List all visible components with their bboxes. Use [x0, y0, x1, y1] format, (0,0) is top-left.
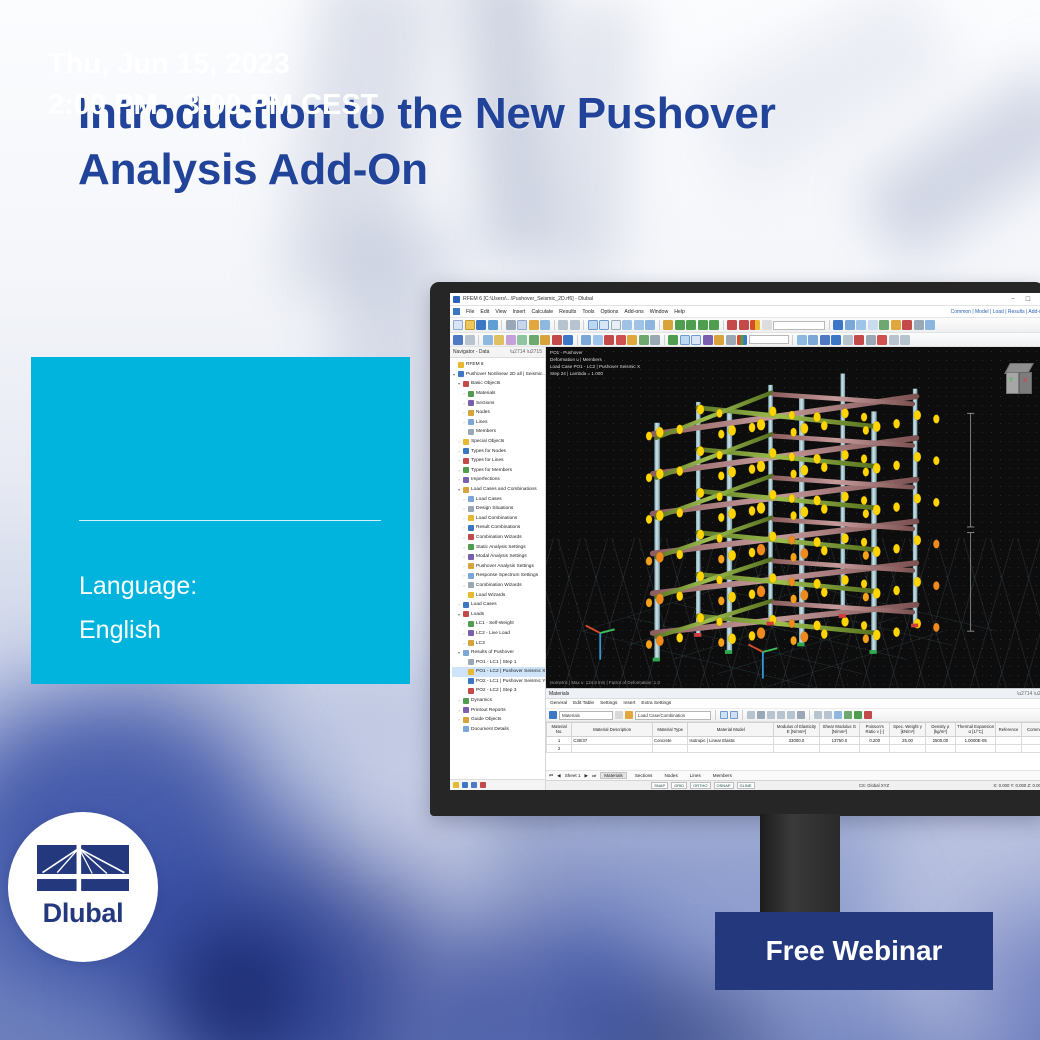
- material-icon: [468, 391, 474, 397]
- plastic-hinge-marker: [716, 576, 722, 585]
- table-cell[interactable]: 2500.00: [925, 736, 955, 744]
- tree-twisty-icon[interactable]: ›: [462, 554, 466, 559]
- plastic-hinge-marker: [813, 496, 820, 506]
- table-cell[interactable]: [890, 744, 925, 752]
- load-case-combo[interactable]: [749, 335, 789, 344]
- navigator-item[interactable]: ›Dynamics: [452, 696, 545, 706]
- plastic-hinge-marker: [697, 446, 704, 456]
- toolbar-primary: [450, 318, 1040, 333]
- node-select-icon[interactable]: [833, 320, 843, 330]
- navigator-item[interactable]: ▾Load Cases and Combinations: [452, 485, 545, 495]
- line-load-icon[interactable]: [616, 335, 626, 345]
- tree-twisty-icon[interactable]: ›: [462, 420, 466, 425]
- support-node-icon[interactable]: [529, 335, 539, 345]
- navigator-item-label: Load Cases and Combinations: [471, 487, 537, 492]
- table-cell[interactable]: [996, 736, 1021, 744]
- navigator-item[interactable]: ›Nodes: [452, 408, 545, 418]
- menu-item-addons[interactable]: Add-ons: [624, 309, 643, 315]
- table-panel-title: Materials: [549, 691, 569, 697]
- table-cell[interactable]: [925, 744, 955, 752]
- menu-item-file[interactable]: File: [466, 309, 474, 315]
- plastic-hinge-marker: [646, 640, 652, 649]
- navigator-item[interactable]: ›Materials: [452, 389, 545, 399]
- divide-icon[interactable]: [843, 335, 853, 345]
- navigator-item[interactable]: Document Details: [452, 725, 545, 735]
- support-icon[interactable]: [879, 320, 889, 330]
- tree-twisty-icon[interactable]: ›: [457, 449, 461, 454]
- opening-icon[interactable]: [517, 335, 527, 345]
- table-menu-edittable[interactable]: Edit Table: [573, 701, 594, 706]
- navigator-item[interactable]: ▾Pushover Nonlinear 2D all | Seismic...: [452, 370, 545, 380]
- plastic-hinge-marker: [933, 456, 939, 465]
- navigator-item[interactable]: ›Lines: [452, 418, 545, 428]
- delete-icon[interactable]: [877, 335, 887, 345]
- redo-icon[interactable]: [570, 320, 580, 330]
- table-loadcase-combo[interactable]: Load Case/Combination: [635, 711, 711, 720]
- nav-next-icon[interactable]: ▶: [585, 773, 589, 779]
- results-tab-icon[interactable]: [480, 782, 486, 788]
- arc-icon[interactable]: [900, 335, 910, 345]
- print-table-icon[interactable]: [834, 711, 842, 719]
- import-icon[interactable]: [824, 711, 832, 719]
- plastic-hinge-marker: [801, 465, 809, 476]
- table-edit-icon[interactable]: [767, 711, 775, 719]
- calc-icon[interactable]: [844, 711, 852, 719]
- table-cell[interactable]: [956, 744, 996, 752]
- tree-twisty-icon[interactable]: ›: [462, 583, 466, 588]
- nav-last-icon[interactable]: ⏭: [592, 773, 596, 778]
- table-column-header[interactable]: Poisson's Ratio ν [-]: [860, 723, 890, 737]
- navigator-item-label: PO1 - LC2 | Pushover Seismic X: [476, 669, 545, 674]
- load-icon[interactable]: [902, 320, 912, 330]
- navigator-item[interactable]: ›Response Spectrum Settings: [452, 571, 545, 581]
- navigator-item[interactable]: ›Combination Wizards: [452, 581, 545, 591]
- table-cell[interactable]: [572, 744, 653, 752]
- view-side-icon[interactable]: [645, 320, 655, 330]
- print-icon[interactable]: [488, 320, 498, 330]
- webinar-date: Thu, Jun 15, 2023: [48, 44, 468, 85]
- navigator-item[interactable]: ›Types for Nodes: [452, 446, 545, 456]
- navigator-item-label: Modal Analysis Settings: [476, 554, 527, 559]
- tree-twisty-icon[interactable]: ›: [462, 401, 466, 406]
- display-tab-icon[interactable]: [462, 782, 468, 788]
- plastic-hinge-marker: [914, 535, 921, 545]
- plastic-hinge-marker: [821, 421, 828, 430]
- status-cs: CS: Global XYZ: [859, 783, 889, 788]
- measure-icon[interactable]: [714, 335, 724, 345]
- minimize-button[interactable]: –: [1007, 296, 1019, 302]
- lc-icon: [468, 640, 474, 646]
- materials-table[interactable]: Material No.Material DescriptionMaterial…: [546, 722, 1040, 753]
- edit-filter-icon[interactable]: [625, 711, 633, 719]
- render-solid-icon[interactable]: [588, 320, 598, 330]
- app-logo-icon: [453, 296, 460, 303]
- plastic-hinge-marker: [813, 412, 820, 422]
- webinar-datetime: Thu, Jun 15, 2023 2:00 PM - 3:00 PM CEST: [48, 44, 468, 126]
- plastic-hinge-marker: [861, 579, 867, 588]
- navigator-item-label: Static Analysis Settings: [476, 545, 526, 550]
- table-cell[interactable]: [653, 744, 688, 752]
- hinge-icon[interactable]: [891, 320, 901, 330]
- tree-twisty-icon[interactable]: ›: [457, 708, 461, 713]
- table-body[interactable]: 1C30/37ConcreteIsotropic | Linear Elasti…: [547, 736, 1040, 752]
- navigator-item-label: Types for Members: [471, 468, 512, 473]
- undo-icon[interactable]: [558, 320, 568, 330]
- extend-icon[interactable]: [866, 335, 876, 345]
- nav-first-icon[interactable]: ⏮: [549, 773, 553, 778]
- polyline-icon[interactable]: [889, 335, 899, 345]
- member-icon[interactable]: [483, 335, 493, 345]
- table-cell[interactable]: Concrete: [653, 736, 688, 744]
- table-column-header[interactable]: Comment: [1021, 723, 1040, 737]
- nav-page-label: Sheet 1: [565, 773, 581, 778]
- plastic-hinge-marker: [646, 432, 652, 441]
- first-icon[interactable]: [720, 711, 728, 719]
- plastic-hinge-marker: [789, 536, 795, 545]
- navigator-item[interactable]: ›Guide Objects: [452, 715, 545, 725]
- navigator-item-label: Load Cases: [476, 497, 502, 502]
- navigator-item[interactable]: ›LC2 - Live Load: [452, 629, 545, 639]
- palette-icon[interactable]: [762, 320, 772, 330]
- table-menu-insert[interactable]: Insert: [623, 701, 635, 706]
- surface-select-icon[interactable]: [856, 320, 866, 330]
- trim-icon[interactable]: [854, 335, 864, 345]
- tree-twisty-icon[interactable]: ›: [462, 497, 466, 502]
- delete-row-icon[interactable]: [787, 711, 795, 719]
- tab-materials[interactable]: Materials: [600, 772, 627, 779]
- hinge-member-icon[interactable]: [540, 335, 550, 345]
- new-row-icon[interactable]: [797, 711, 805, 719]
- tree-twisty-icon[interactable]: ›: [457, 468, 461, 473]
- tree-twisty-icon[interactable]: ›: [457, 698, 461, 703]
- zoom-out-icon[interactable]: [698, 320, 708, 330]
- navigator-item[interactable]: ›LC1 - Self-Weight: [452, 619, 545, 629]
- table-cell[interactable]: [1021, 736, 1040, 744]
- release-icon[interactable]: [552, 335, 562, 345]
- colors-icon[interactable]: [727, 320, 737, 330]
- insert-row-icon[interactable]: [777, 711, 785, 719]
- plastic-hinge-marker: [821, 629, 828, 638]
- navigator-item[interactable]: ▾Loads: [452, 609, 545, 619]
- thickness-icon[interactable]: [593, 335, 603, 345]
- table-filter-combo[interactable]: Materials: [559, 711, 613, 720]
- navigator-tree[interactable]: RFEM 6▾Pushover Nonlinear 2D all | Seism…: [450, 358, 545, 779]
- table-menu-general[interactable]: General: [550, 701, 567, 706]
- columns-icon[interactable]: [747, 711, 755, 719]
- navigator-item[interactable]: ›Modal Analysis Settings: [452, 552, 545, 562]
- table-cell[interactable]: 1.0000E-05: [956, 736, 996, 744]
- tree-twisty-icon[interactable]: ▾: [457, 487, 461, 492]
- help-icon[interactable]: [864, 711, 872, 719]
- plastic-hinge-marker: [933, 623, 939, 632]
- plastic-hinge-marker: [656, 510, 664, 521]
- plastic-hinge-marker: [676, 550, 683, 559]
- table-column-header[interactable]: Reference: [996, 723, 1021, 737]
- menu-item-view[interactable]: View: [495, 309, 506, 315]
- mirror-icon[interactable]: [797, 335, 807, 345]
- plastic-hinge-marker: [646, 598, 652, 607]
- refresh-icon[interactable]: [854, 711, 862, 719]
- table-column-header[interactable]: Thermal Expansion α [1/°C]: [956, 723, 996, 737]
- render-transparent-icon[interactable]: [611, 320, 621, 330]
- navigator-item-label: LC2 - Live Load: [476, 631, 510, 636]
- menu-item-calculate[interactable]: Calculate: [531, 309, 553, 315]
- table-cell[interactable]: 1: [547, 736, 572, 744]
- navigator-item[interactable]: ›Imperfections: [452, 475, 545, 485]
- imperfection-icon[interactable]: [650, 335, 660, 345]
- filter-chevron-icon[interactable]: [615, 711, 623, 719]
- solid-icon[interactable]: [506, 335, 516, 345]
- free-load-icon[interactable]: [639, 335, 649, 345]
- table-cell[interactable]: 2: [547, 744, 572, 752]
- copy-icon[interactable]: [517, 320, 527, 330]
- views-tab-icon[interactable]: [471, 782, 477, 788]
- table-column-header[interactable]: Shear Modulus G [N/mm²]: [819, 723, 859, 737]
- surface-load-icon[interactable]: [627, 335, 637, 345]
- status-gline[interactable]: GLINE: [737, 782, 755, 789]
- open-icon[interactable]: [465, 320, 475, 330]
- navigator-item[interactable]: ›Pushover Analysis Settings: [452, 561, 545, 571]
- plastic-hinge-marker: [728, 425, 736, 436]
- table-column-header[interactable]: Material Type: [653, 723, 688, 737]
- table-column-header[interactable]: Material Description: [572, 723, 653, 737]
- grid-icon[interactable]: [680, 335, 690, 345]
- plastic-hinge-marker: [718, 638, 724, 647]
- navigator-item[interactable]: ›Load Cases: [452, 494, 545, 504]
- table-cell[interactable]: 0.200: [860, 736, 890, 744]
- axes-icon[interactable]: [737, 335, 747, 345]
- tab-lines[interactable]: Lines: [686, 772, 705, 779]
- tree-twisty-icon[interactable]: ›: [462, 621, 466, 626]
- tree-twisty-icon[interactable]: ▾: [457, 650, 461, 655]
- navigator-item[interactable]: ›Static Analysis Settings: [452, 542, 545, 552]
- osnap-icon[interactable]: [668, 335, 678, 345]
- tree-twisty-icon[interactable]: ›: [462, 516, 466, 521]
- zoom-all-icon[interactable]: [663, 320, 673, 330]
- table-column-header[interactable]: Material Model: [688, 723, 774, 737]
- navigator-item[interactable]: ▾Results of Pushover: [452, 648, 545, 658]
- tree-twisty-icon[interactable]: ›: [457, 602, 461, 607]
- tree-twisty-icon[interactable]: ›: [457, 458, 461, 463]
- navigator-item[interactable]: RFEM 6: [452, 360, 545, 370]
- plastic-hinge-marker: [718, 430, 724, 439]
- tab-members[interactable]: Members: [709, 772, 736, 779]
- navigator-item[interactable]: PO2 - LC1 | Pushover Seismic Y: [452, 677, 545, 687]
- tree-twisty-icon[interactable]: ›: [462, 525, 466, 530]
- plastic-hinge-marker: [914, 410, 921, 420]
- data-tab-icon[interactable]: [453, 782, 459, 788]
- table-cell[interactable]: [819, 744, 859, 752]
- tree-twisty-icon[interactable]: ›: [462, 506, 466, 511]
- view-cube-icon[interactable]: YX: [1004, 363, 1034, 397]
- maximize-button[interactable]: ☐: [1022, 296, 1034, 303]
- table-cell[interactable]: [1021, 744, 1040, 752]
- dimension-icon[interactable]: [914, 320, 924, 330]
- plastic-hinge-marker: [873, 463, 881, 474]
- table-cell[interactable]: C30/37: [572, 736, 653, 744]
- navigator-item[interactable]: ›Result Combinations: [452, 523, 545, 533]
- tab-sections[interactable]: Sections: [631, 772, 657, 779]
- navigator-item-label: Results of Pushover: [471, 650, 514, 655]
- table-cell[interactable]: [860, 744, 890, 752]
- menu-item-insert[interactable]: Insert: [512, 309, 525, 315]
- plastic-hinge-marker: [861, 496, 867, 505]
- pan-icon[interactable]: [709, 320, 719, 330]
- rfem-application-window: RFEM 6 [C:\Users\...\Pushover_Seismic_2D…: [450, 293, 1040, 790]
- table-cell[interactable]: 25.00: [890, 736, 925, 744]
- navigator-item-label: Design Situations: [476, 506, 513, 511]
- tree-twisty-icon[interactable]: ›: [462, 573, 466, 578]
- line-icon[interactable]: [465, 335, 475, 345]
- navigator-item[interactable]: ›Types for Lines: [452, 456, 545, 466]
- folder-icon: [463, 458, 469, 464]
- status-snap[interactable]: SNAP: [651, 782, 668, 789]
- navigator-item[interactable]: ›LC3: [452, 638, 545, 648]
- plastic-hinge-marker: [676, 633, 683, 642]
- navigator-item[interactable]: ›Sections: [452, 398, 545, 408]
- table-cell[interactable]: [688, 744, 774, 752]
- grid-snap-icon[interactable]: [925, 320, 935, 330]
- table-column-header[interactable]: Spec. Weight γ [kN/m³]: [890, 723, 925, 737]
- navigator-item-label: LC1 - Self-Weight: [476, 621, 514, 626]
- menu-item-options[interactable]: Options: [601, 309, 619, 315]
- table-pin-icon[interactable]: \u2714 \u2715: [1017, 691, 1040, 697]
- plastic-hinge-marker: [801, 548, 809, 559]
- member-select-icon[interactable]: [868, 320, 878, 330]
- navigator-item-label: Printout Reports: [471, 708, 506, 713]
- table-column-header[interactable]: Material No.: [547, 723, 572, 737]
- free-webinar-button[interactable]: Free Webinar: [715, 912, 993, 990]
- table-column-header[interactable]: Modulus of Elasticity E [N/mm²]: [774, 723, 819, 737]
- tree-twisty-icon[interactable]: ›: [462, 410, 466, 415]
- node-icon: [468, 410, 474, 416]
- menu-item-edit[interactable]: Edit: [480, 309, 489, 315]
- text-icon[interactable]: [726, 335, 736, 345]
- menu-item-tools[interactable]: Tools: [582, 309, 594, 315]
- navigator-item[interactable]: ▾Basic Objects: [452, 379, 545, 389]
- table-object-icon[interactable]: [549, 711, 557, 719]
- prev-icon[interactable]: [730, 711, 738, 719]
- copy-move-icon[interactable]: [808, 335, 818, 345]
- toolbar-secondary: [450, 333, 1040, 347]
- cs-icon[interactable]: [703, 335, 713, 345]
- section-icon[interactable]: [563, 335, 573, 345]
- navigator-item[interactable]: Members: [452, 427, 545, 437]
- save-icon[interactable]: [476, 320, 486, 330]
- status-osnap[interactable]: OSNAP: [714, 782, 734, 789]
- table-menu-settings[interactable]: Settings: [600, 701, 617, 706]
- nav-prev-icon[interactable]: ◀: [557, 773, 561, 779]
- plastic-hinge-marker: [656, 427, 664, 438]
- model-viewport[interactable]: PO1 - Pushover Deformation u | Members L…: [546, 347, 1040, 688]
- table-row[interactable]: 2: [547, 744, 1040, 752]
- table-row[interactable]: 1C30/37ConcreteIsotropic | Linear Elasti…: [547, 736, 1040, 744]
- menu-item-window[interactable]: Window: [650, 309, 668, 315]
- rotate-obj-icon[interactable]: [820, 335, 830, 345]
- tree-twisty-icon[interactable]: ›: [462, 631, 466, 636]
- navigator-item[interactable]: ›Special Objects: [452, 437, 545, 447]
- plastic-hinge-marker: [718, 555, 724, 564]
- tree-twisty-icon[interactable]: ›: [457, 717, 461, 722]
- navigator-item[interactable]: PO1 - LC2 | Pushover Seismic X: [452, 667, 545, 677]
- new-icon[interactable]: [453, 320, 463, 330]
- export-icon[interactable]: [814, 711, 822, 719]
- table-cell[interactable]: [996, 744, 1021, 752]
- table-column-header[interactable]: Density ρ [kg/m³]: [925, 723, 955, 737]
- pin-icon[interactable]: \u2714 \u2715: [510, 349, 542, 355]
- menu-item-results[interactable]: Results: [559, 309, 576, 315]
- legend-icon[interactable]: [750, 320, 760, 330]
- tree-twisty-icon[interactable]: ›: [462, 391, 466, 396]
- navigator-item[interactable]: Load Wizards: [452, 590, 545, 600]
- navigator-item[interactable]: PO1 - LC1 | Step 1: [452, 657, 545, 667]
- menu-item-help[interactable]: Help: [674, 309, 685, 315]
- nodal-load-icon[interactable]: [604, 335, 614, 345]
- paste-icon[interactable]: [529, 320, 539, 330]
- navigator-item[interactable]: ›Load Cases: [452, 600, 545, 610]
- tree-twisty-icon[interactable]: ▾: [457, 381, 461, 386]
- status-grid[interactable]: GRID: [671, 782, 687, 789]
- node-icon[interactable]: [453, 335, 463, 345]
- tree-twisty-icon[interactable]: ›: [462, 641, 466, 646]
- zoom-in-icon[interactable]: [686, 320, 696, 330]
- surface-icon[interactable]: [494, 335, 504, 345]
- plastic-hinge-marker: [718, 471, 724, 480]
- material-icon[interactable]: [581, 335, 591, 345]
- render-wire-icon[interactable]: [599, 320, 609, 330]
- tab-nodes[interactable]: Nodes: [660, 772, 681, 779]
- table-cell[interactable]: Isotropic | Linear Elastic: [688, 736, 774, 744]
- zoom-window-icon[interactable]: [675, 320, 685, 330]
- tree-twisty-icon[interactable]: ›: [462, 545, 466, 550]
- navigator-item[interactable]: ›Combination Wizards: [452, 533, 545, 543]
- scale-icon[interactable]: [831, 335, 841, 345]
- spectrum-icon: [468, 573, 474, 579]
- navigator-item[interactable]: ›Types for Members: [452, 466, 545, 476]
- cut-icon[interactable]: [506, 320, 516, 330]
- status-ortho[interactable]: ORTHO: [690, 782, 710, 789]
- table-menu-extra[interactable]: Extra Settings: [641, 701, 671, 706]
- table-cell[interactable]: [774, 744, 819, 752]
- tree-twisty-icon[interactable]: ›: [462, 564, 466, 569]
- plastic-hinge-marker: [863, 509, 869, 518]
- print-preview-icon[interactable]: [540, 320, 550, 330]
- tree-twisty-icon[interactable]: ▾: [457, 612, 461, 617]
- plastic-hinge-marker: [801, 632, 809, 643]
- viewport-result-label: PO1 - Pushover Deformation u | Members L…: [550, 350, 640, 378]
- filter-icon[interactable]: [739, 320, 749, 330]
- work-plane-icon[interactable]: [691, 335, 701, 345]
- navigator-item[interactable]: PO2 - LC2 | Step 3: [452, 686, 545, 696]
- navigator-item[interactable]: ›Load Combinations: [452, 514, 545, 524]
- menu-app-icon[interactable]: [453, 308, 460, 315]
- table-cell[interactable]: 33000.0: [774, 736, 819, 744]
- navigator-item[interactable]: ›Design Situations: [452, 504, 545, 514]
- tree-twisty-icon[interactable]: ›: [457, 439, 461, 444]
- table-cell[interactable]: 13750.0: [819, 736, 859, 744]
- tree-twisty-icon[interactable]: ›: [457, 477, 461, 482]
- tree-twisty-icon[interactable]: ›: [462, 535, 466, 540]
- menu-context-tabs[interactable]: Common | Model | Load | Results | Add-on…: [951, 309, 1040, 315]
- section-icon: [468, 400, 474, 406]
- line-select-icon[interactable]: [845, 320, 855, 330]
- navigator-item[interactable]: ›Printout Reports: [452, 705, 545, 715]
- view-top-icon[interactable]: [634, 320, 644, 330]
- tree-twisty-icon[interactable]: ▾: [452, 372, 456, 377]
- result-case-combo[interactable]: [773, 321, 825, 330]
- sort-icon[interactable]: [757, 711, 765, 719]
- view-front-icon[interactable]: [622, 320, 632, 330]
